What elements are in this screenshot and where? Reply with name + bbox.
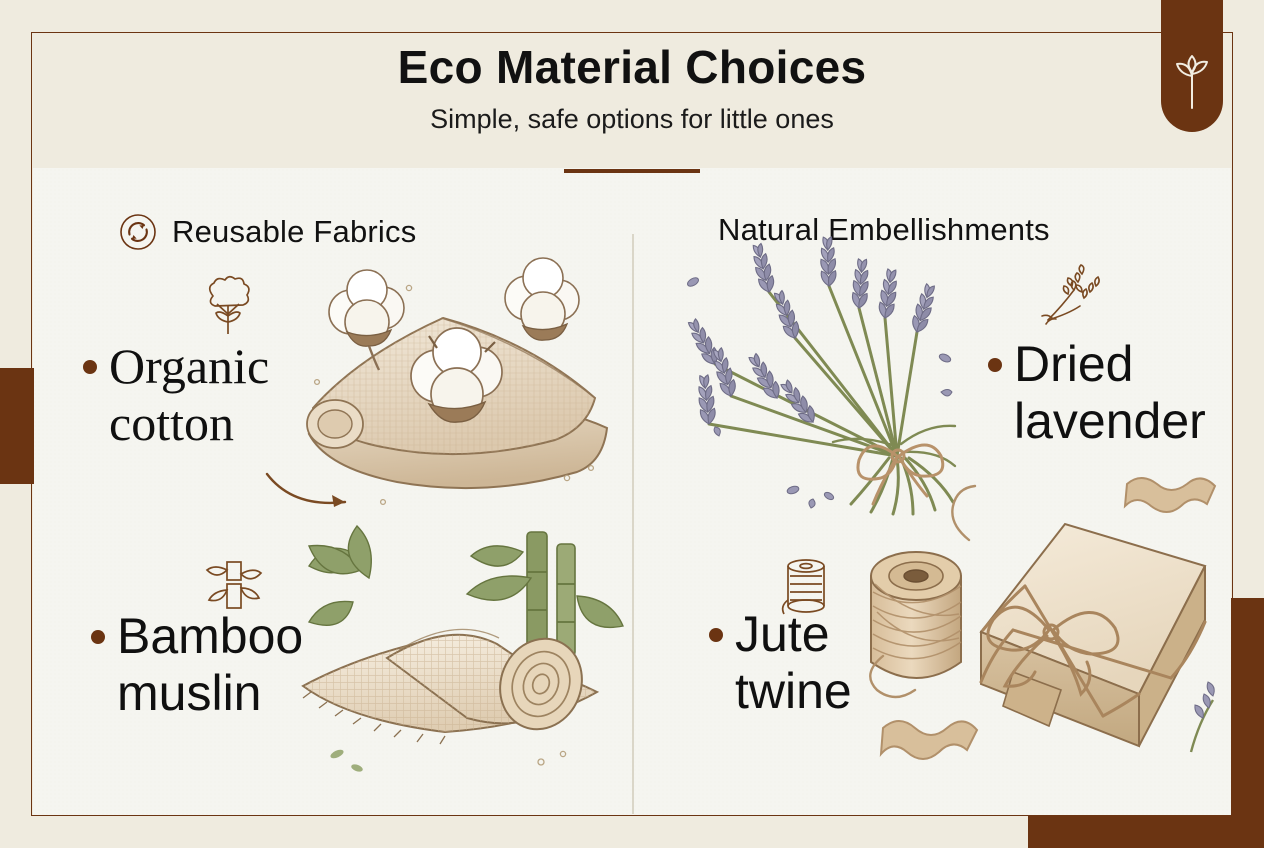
folded-cotton-cloth-illustration xyxy=(291,256,621,516)
page-title: Eco Material Choices xyxy=(0,40,1264,94)
item-label-dried-lavender: Dried lavender xyxy=(988,336,1231,450)
column-header-label: Reusable Fabrics xyxy=(172,214,416,250)
page-subtitle: Simple, safe options for little ones xyxy=(0,104,1264,135)
lavender-bouquet-illustration xyxy=(673,246,993,516)
item-text: Organic cotton xyxy=(109,338,269,452)
twine-spool-parcel-illustration xyxy=(853,480,1223,780)
item-text: Bamboo muslin xyxy=(117,608,303,722)
title-underline-rule xyxy=(564,169,700,173)
header-band: Eco Material Choices Simple, safe option… xyxy=(0,0,1264,168)
bullet-dot xyxy=(709,628,723,642)
item-text: Dried lavender xyxy=(1014,336,1206,450)
infographic-canvas: Eco Material Choices Simple, safe option… xyxy=(0,0,1264,848)
item-text: Jute twine xyxy=(735,606,852,720)
bullet-dot xyxy=(91,630,105,644)
bullet-dot xyxy=(83,360,97,374)
lavender-sprig-icon xyxy=(1038,264,1104,326)
column-header-natural-embellishments: Natural Embellishments xyxy=(718,212,1050,248)
column-header-reusable-fabrics: Reusable Fabrics xyxy=(118,212,416,252)
cotton-boll-icon xyxy=(193,276,263,342)
content-panel: Reusable Fabrics Natural Embellishments … xyxy=(33,168,1231,816)
column-header-label: Natural Embellishments xyxy=(718,212,1050,248)
bamboo-stalk-icon xyxy=(203,558,265,614)
column-divider xyxy=(632,234,634,814)
brown-edge-block xyxy=(0,368,34,484)
rolled-bamboo-muslin-illustration xyxy=(295,518,625,778)
eco-badge-tab xyxy=(1161,0,1223,132)
recycle-circle-icon xyxy=(118,212,158,252)
sprout-leaf-icon xyxy=(1172,56,1212,110)
